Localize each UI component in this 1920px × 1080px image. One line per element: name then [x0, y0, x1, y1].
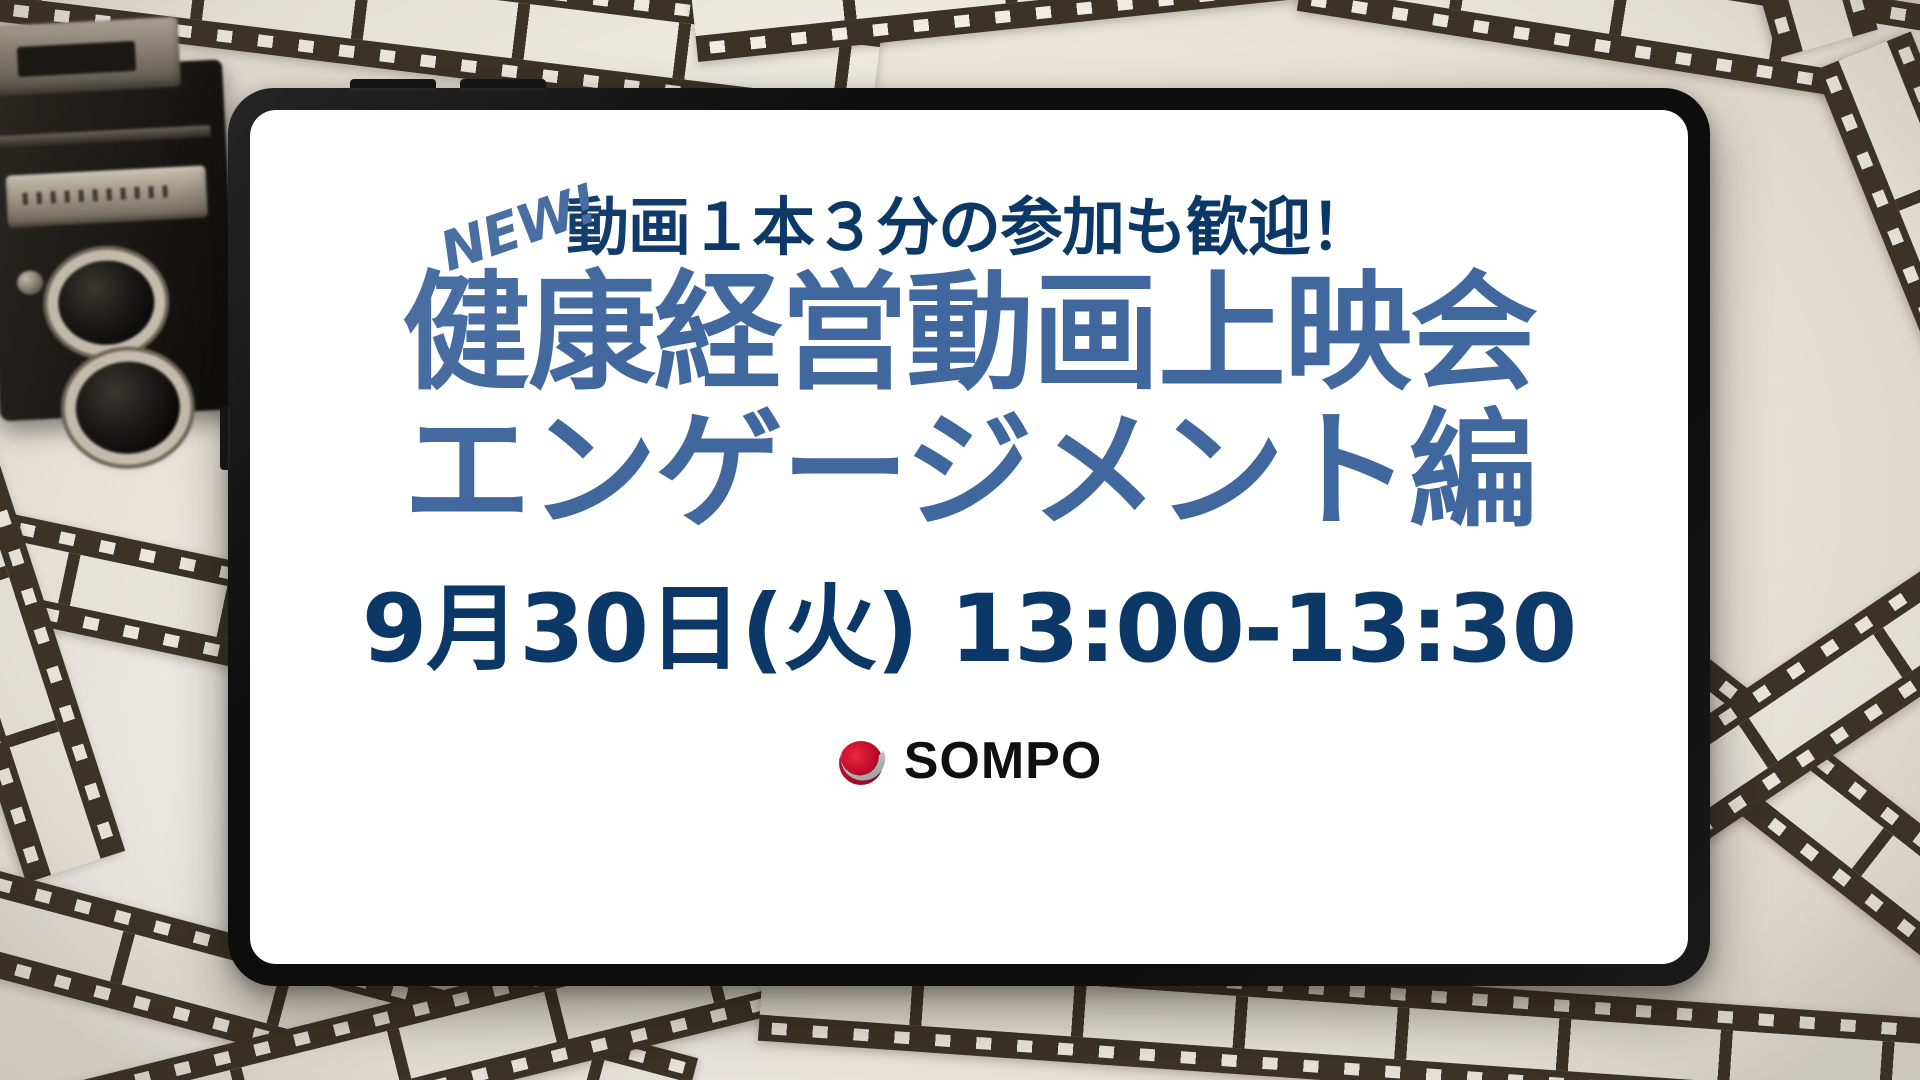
volume-down-button[interactable] [460, 79, 546, 91]
sompo-mark-icon [836, 734, 890, 788]
poster-subtitle: 動画１本３分の参加も歓迎！ [566, 196, 1372, 259]
headline-line-1: 健康経営動画上映会 [402, 259, 1536, 408]
sompo-logo: SOMPO [836, 734, 1103, 788]
poster-datetime: 9月30日(火) 13:00-13:30 [362, 581, 1576, 680]
vintage-camera-icon [0, 3, 266, 437]
power-button[interactable] [220, 406, 230, 470]
volume-up-button[interactable] [350, 79, 436, 91]
poster-content: NEW! 動画１本３分の参加も歓迎！ 健康経営動画上映会 エンゲージメント編 9… [250, 110, 1688, 964]
tablet-screen: NEW! 動画１本３分の参加も歓迎！ 健康経営動画上映会 エンゲージメント編 9… [250, 110, 1688, 964]
tablet-device: NEW! 動画１本３分の参加も歓迎！ 健康経営動画上映会 エンゲージメント編 9… [228, 88, 1710, 986]
poster-stage: NEW! 動画１本３分の参加も歓迎！ 健康経営動画上映会 エンゲージメント編 9… [0, 0, 1920, 1080]
headline-line-2: エンゲージメント編 [402, 403, 1536, 541]
poster-headline: 健康経営動画上映会 エンゲージメント編 [402, 265, 1536, 541]
sompo-wordmark: SOMPO [904, 735, 1103, 787]
